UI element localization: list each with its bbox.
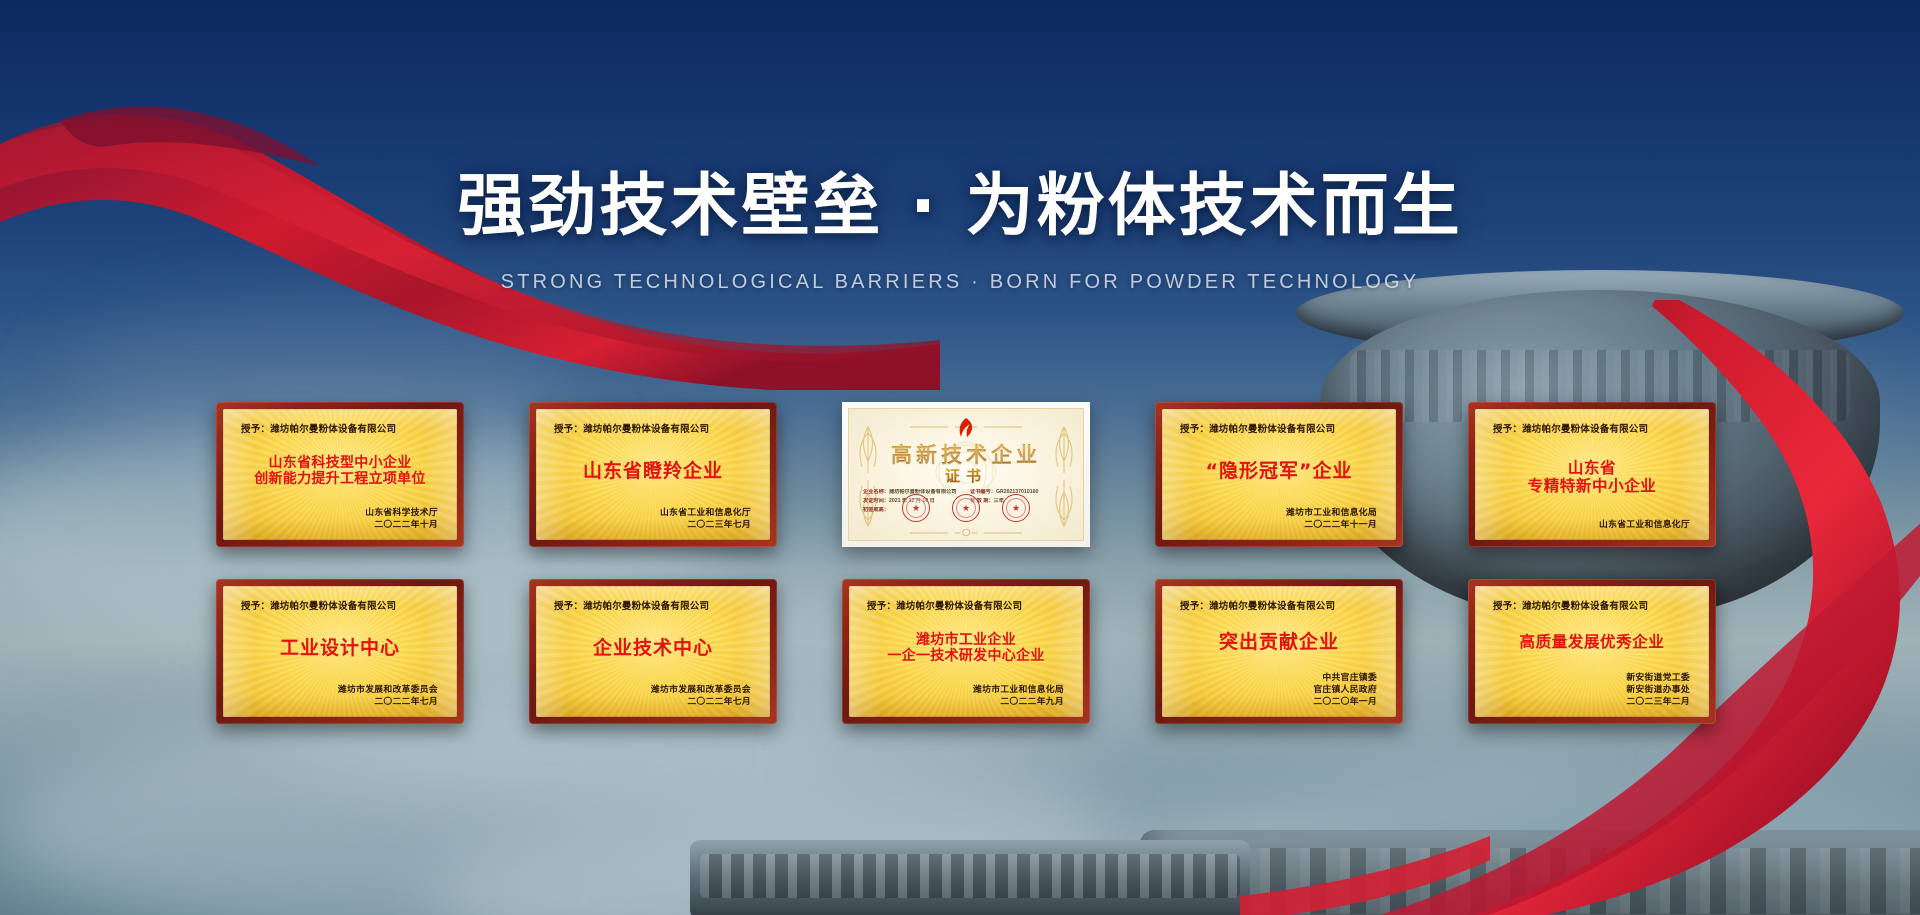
award-title-line: 创新能力提升工程立项单位 bbox=[254, 471, 426, 488]
award-issuer-line: 二〇二二年七月 bbox=[550, 696, 751, 708]
award-issuer-line: 二〇二二年十月 bbox=[237, 519, 438, 531]
award-issuer-line: 山东省工业和信息化厅 bbox=[550, 507, 751, 519]
award-issuer-line: 二〇二二年十一月 bbox=[1176, 519, 1377, 531]
certificate-inner: 高新技术企业证书企业名称：潍坊帕尔曼粉体设备有限公司证书编号：GR2021370… bbox=[848, 408, 1084, 541]
plaque-gold-panel: 授予：潍坊帕尔曼粉体设备有限公司山东省瞪羚企业山东省工业和信息化厅二〇二三年七月 bbox=[536, 409, 770, 540]
award-title: 山东省科技型中小企业创新能力提升工程立项单位 bbox=[237, 437, 443, 506]
award-plaque[interactable]: 授予：潍坊帕尔曼粉体设备有限公司突出贡献企业中共官庄镇委官庄镇人民政府二〇二〇年… bbox=[1155, 579, 1403, 724]
award-issuer-line: 潍坊市工业和信息化局 bbox=[863, 684, 1064, 696]
certificate-subtitle: 证书 bbox=[849, 465, 1083, 486]
plaque-text: 授予：潍坊帕尔曼粉体设备有限公司山东省专精特新中小企业山东省工业和信息化厅 bbox=[1475, 409, 1709, 540]
award-title-line: 企业技术中心 bbox=[593, 637, 713, 659]
award-plaque[interactable]: 授予：潍坊帕尔曼粉体设备有限公司山东省科技型中小企业创新能力提升工程立项单位山东… bbox=[216, 402, 464, 547]
plaque-gold-panel: 授予：潍坊帕尔曼粉体设备有限公司工业设计中心潍坊市发展和改革委员会二〇二二年七月 bbox=[223, 586, 457, 717]
plaque-text: 授予：潍坊帕尔曼粉体设备有限公司高质量发展优秀企业新安街道党工委新安街道办事处二… bbox=[1475, 586, 1709, 717]
certificate-bottom-ornament bbox=[910, 524, 1022, 533]
award-recipient: 授予：潍坊帕尔曼粉体设备有限公司 bbox=[1489, 598, 1695, 612]
plaque-text: 授予：潍坊帕尔曼粉体设备有限公司企业技术中心潍坊市发展和改革委员会二〇二二年七月 bbox=[536, 586, 770, 717]
award-issuer-line: 山东省工业和信息化厅 bbox=[1489, 519, 1690, 531]
headline-block: 强劲技术壁垒 · 为粉体技术而生 STRONG TECHNOLOGICAL BA… bbox=[0, 150, 1920, 294]
award-issuer-line: 二〇二二年七月 bbox=[237, 696, 438, 708]
award-title-line: “隐形冠军”企业 bbox=[1206, 460, 1353, 482]
award-issuer-line: 潍坊市发展和改革委员会 bbox=[550, 684, 751, 696]
plaque-gold-panel: 授予：潍坊帕尔曼粉体设备有限公司高质量发展优秀企业新安街道党工委新安街道办事处二… bbox=[1475, 586, 1709, 717]
award-title-line: 高质量发展优秀企业 bbox=[1520, 633, 1665, 651]
plaque-gold-panel: 授予：潍坊帕尔曼粉体设备有限公司山东省科技型中小企业创新能力提升工程立项单位山东… bbox=[223, 409, 457, 540]
award-issuer-line: 二〇二三年七月 bbox=[550, 519, 751, 531]
award-gallery: 授予：潍坊帕尔曼粉体设备有限公司山东省科技型中小企业创新能力提升工程立项单位山东… bbox=[216, 402, 1716, 724]
award-issuer-line: 山东省科学技术厅 bbox=[237, 507, 438, 519]
plaque-text: 授予：潍坊帕尔曼粉体设备有限公司山东省科技型中小企业创新能力提升工程立项单位山东… bbox=[223, 409, 457, 540]
award-title-line: 一企一技术研发中心企业 bbox=[887, 648, 1044, 665]
award-issuer-line: 官庄镇人民政府 bbox=[1176, 684, 1377, 696]
award-issuer: 山东省工业和信息化厅 bbox=[1489, 519, 1695, 531]
award-recipient: 授予：潍坊帕尔曼粉体设备有限公司 bbox=[550, 421, 756, 435]
award-plaque[interactable]: 授予：潍坊帕尔曼粉体设备有限公司工业设计中心潍坊市发展和改革委员会二〇二二年七月 bbox=[216, 579, 464, 724]
award-issuer-line: 二〇二三年二月 bbox=[1489, 696, 1690, 708]
page-title: 强劲技术壁垒 · 为粉体技术而生 bbox=[0, 150, 1920, 249]
plaque-gold-panel: 授予：潍坊帕尔曼粉体设备有限公司山东省专精特新中小企业山东省工业和信息化厅 bbox=[1475, 409, 1709, 540]
award-issuer: 潍坊市发展和改革委员会二〇二二年七月 bbox=[237, 684, 443, 708]
award-title-line: 山东省科技型中小企业 bbox=[269, 455, 412, 472]
award-issuer-line: 新安街道办事处 bbox=[1489, 684, 1690, 696]
certificate-seals bbox=[849, 494, 1083, 522]
plaque-gold-panel: 授予：潍坊帕尔曼粉体设备有限公司突出贡献企业中共官庄镇委官庄镇人民政府二〇二〇年… bbox=[1162, 586, 1396, 717]
award-issuer: 潍坊市工业和信息化局二〇二二年九月 bbox=[863, 684, 1069, 708]
award-title-line: 专精特新中小企业 bbox=[1528, 477, 1657, 495]
plaque-text: 授予：潍坊帕尔曼粉体设备有限公司工业设计中心潍坊市发展和改革委员会二〇二二年七月 bbox=[223, 586, 457, 717]
page-subtitle: STRONG TECHNOLOGICAL BARRIERS · BORN FOR… bbox=[0, 271, 1920, 294]
plaque-gold-panel: 授予：潍坊帕尔曼粉体设备有限公司企业技术中心潍坊市发展和改革委员会二〇二二年七月 bbox=[536, 586, 770, 717]
award-issuer: 中共官庄镇委官庄镇人民政府二〇二〇年一月 bbox=[1176, 672, 1382, 708]
award-plaque[interactable]: 授予：潍坊帕尔曼粉体设备有限公司高质量发展优秀企业新安街道党工委新安街道办事处二… bbox=[1468, 579, 1716, 724]
award-plaque[interactable]: 授予：潍坊帕尔曼粉体设备有限公司山东省瞪羚企业山东省工业和信息化厅二〇二三年七月 bbox=[529, 402, 777, 547]
award-title: 山东省瞪羚企业 bbox=[550, 437, 756, 506]
plaque-gold-panel: 授予：潍坊帕尔曼粉体设备有限公司“隐形冠军”企业潍坊市工业和信息化局二〇二二年十… bbox=[1162, 409, 1396, 540]
award-issuer-line: 中共官庄镇委 bbox=[1176, 672, 1377, 684]
plaque-text: 授予：潍坊帕尔曼粉体设备有限公司“隐形冠军”企业潍坊市工业和信息化局二〇二二年十… bbox=[1162, 409, 1396, 540]
award-title: 工业设计中心 bbox=[237, 614, 443, 683]
plaque-gold-panel: 授予：潍坊帕尔曼粉体设备有限公司潍坊市工业企业一企一技术研发中心企业潍坊市工业和… bbox=[849, 586, 1083, 717]
award-recipient: 授予：潍坊帕尔曼粉体设备有限公司 bbox=[863, 598, 1069, 612]
stone-plinth bbox=[690, 840, 1250, 915]
award-issuer-line: 潍坊市发展和改革委员会 bbox=[237, 684, 438, 696]
seal-3 bbox=[1002, 494, 1030, 522]
award-title-line: 突出贡献企业 bbox=[1219, 631, 1339, 653]
flame-emblem-icon bbox=[954, 417, 978, 439]
plaque-text: 授予：潍坊帕尔曼粉体设备有限公司山东省瞪羚企业山东省工业和信息化厅二〇二三年七月 bbox=[536, 409, 770, 540]
award-title: 潍坊市工业企业一企一技术研发中心企业 bbox=[863, 614, 1069, 683]
award-issuer: 山东省工业和信息化厅二〇二三年七月 bbox=[550, 507, 756, 531]
seal-1 bbox=[902, 494, 930, 522]
award-title: 企业技术中心 bbox=[550, 614, 756, 683]
award-title-line: 山东省 bbox=[1568, 459, 1616, 477]
award-issuer-line: 新安街道党工委 bbox=[1489, 672, 1690, 684]
award-recipient: 授予：潍坊帕尔曼粉体设备有限公司 bbox=[1489, 421, 1695, 435]
award-plaque[interactable]: 授予：潍坊帕尔曼粉体设备有限公司潍坊市工业企业一企一技术研发中心企业潍坊市工业和… bbox=[842, 579, 1090, 724]
award-recipient: 授予：潍坊帕尔曼粉体设备有限公司 bbox=[237, 421, 443, 435]
award-issuer: 潍坊市发展和改革委员会二〇二二年七月 bbox=[550, 684, 756, 708]
award-recipient: 授予：潍坊帕尔曼粉体设备有限公司 bbox=[550, 598, 756, 612]
plaque-text: 授予：潍坊帕尔曼粉体设备有限公司突出贡献企业中共官庄镇委官庄镇人民政府二〇二〇年… bbox=[1162, 586, 1396, 717]
award-issuer: 山东省科学技术厅二〇二二年十月 bbox=[237, 507, 443, 531]
award-title: 山东省专精特新中小企业 bbox=[1489, 437, 1695, 518]
award-plaque[interactable]: 授予：潍坊帕尔曼粉体设备有限公司企业技术中心潍坊市发展和改革委员会二〇二二年七月 bbox=[529, 579, 777, 724]
award-issuer: 潍坊市工业和信息化局二〇二二年十一月 bbox=[1176, 507, 1382, 531]
award-recipient: 授予：潍坊帕尔曼粉体设备有限公司 bbox=[1176, 421, 1382, 435]
banner-stage: 强劲技术壁垒 · 为粉体技术而生 STRONG TECHNOLOGICAL BA… bbox=[0, 0, 1920, 915]
seal-2 bbox=[952, 494, 980, 522]
award-issuer-line: 二〇二二年九月 bbox=[863, 696, 1064, 708]
award-issuer-line: 潍坊市工业和信息化局 bbox=[1176, 507, 1377, 519]
award-title-line: 山东省瞪羚企业 bbox=[583, 460, 723, 482]
plinth-pattern bbox=[700, 854, 1240, 898]
ding-base bbox=[1140, 830, 1920, 915]
award-title-line: 工业设计中心 bbox=[280, 637, 400, 659]
award-issuer-line: 二〇二〇年一月 bbox=[1176, 696, 1377, 708]
plaque-text: 授予：潍坊帕尔曼粉体设备有限公司潍坊市工业企业一企一技术研发中心企业潍坊市工业和… bbox=[849, 586, 1083, 717]
award-title: “隐形冠军”企业 bbox=[1176, 437, 1382, 506]
award-title-line: 潍坊市工业企业 bbox=[916, 632, 1016, 649]
award-certificate[interactable]: 高新技术企业证书企业名称：潍坊帕尔曼粉体设备有限公司证书编号：GR2021370… bbox=[842, 402, 1090, 547]
award-title: 高质量发展优秀企业 bbox=[1489, 614, 1695, 671]
ding-base-pattern bbox=[1140, 848, 1920, 914]
award-recipient: 授予：潍坊帕尔曼粉体设备有限公司 bbox=[1176, 598, 1382, 612]
award-issuer: 新安街道党工委新安街道办事处二〇二三年二月 bbox=[1489, 672, 1695, 708]
award-recipient: 授予：潍坊帕尔曼粉体设备有限公司 bbox=[237, 598, 443, 612]
award-plaque[interactable]: 授予：潍坊帕尔曼粉体设备有限公司山东省专精特新中小企业山东省工业和信息化厅 bbox=[1468, 402, 1716, 547]
award-plaque[interactable]: 授予：潍坊帕尔曼粉体设备有限公司“隐形冠军”企业潍坊市工业和信息化局二〇二二年十… bbox=[1155, 402, 1403, 547]
award-title: 突出贡献企业 bbox=[1176, 614, 1382, 671]
